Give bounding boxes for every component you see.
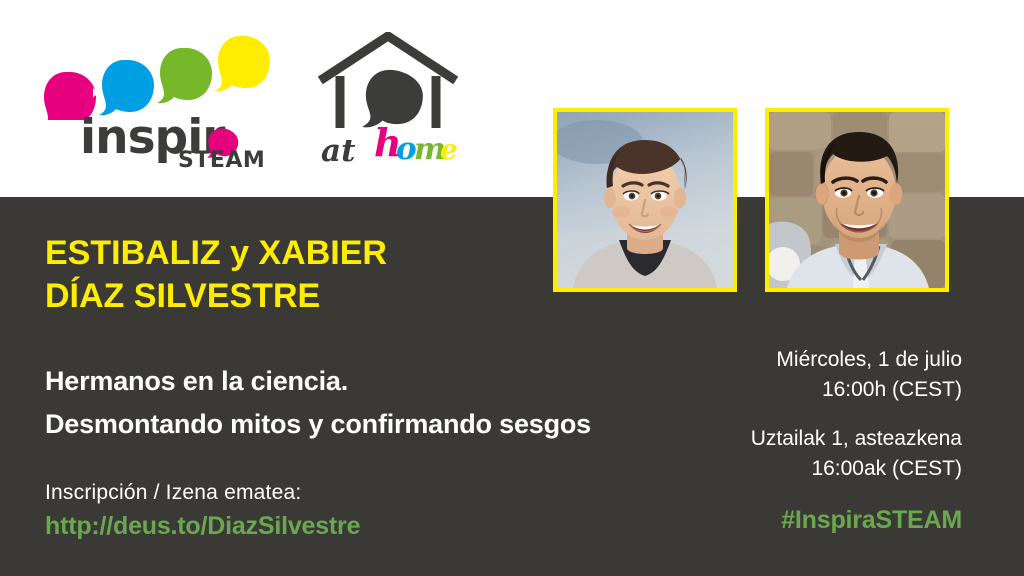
schedule-eu-time: 16:00ak (CEST)	[751, 454, 962, 484]
event-poster: inspir STEAM at h o m e	[0, 0, 1024, 576]
talk-title-line1: Hermanos en la ciencia.	[45, 360, 591, 403]
signup-url-link[interactable]: http://deus.to/DiazSilvestre	[45, 508, 360, 544]
signup-label: Inscripción / Izena ematea:	[45, 478, 360, 508]
portrait-man-image	[769, 112, 945, 288]
schedule-spanish: Miércoles, 1 de julio 16:00h (CEST)	[751, 345, 962, 406]
speaker-names-line2: DÍAZ SILVESTRE	[45, 275, 387, 318]
at-home-wordmark: at h o m e	[318, 124, 458, 168]
hashtag: #InspiraSTEAM	[781, 506, 962, 535]
talk-title-line2: Desmontando mitos y confirmando sesgos	[45, 403, 591, 446]
inspira-steam-logo: inspir STEAM	[44, 30, 284, 170]
portrait-woman-image	[557, 112, 733, 288]
inspira-steam-text: STEAM	[178, 150, 265, 172]
speaker-names-line1: ESTIBALIZ y XABIER	[45, 232, 387, 275]
at-home-logo: at h o m e	[318, 32, 458, 162]
schedule-es-date: Miércoles, 1 de julio	[751, 345, 962, 375]
at-home-at-text: at	[321, 136, 355, 167]
speaker-photo-xabier	[765, 108, 949, 292]
speaker-photo-estibaliz	[553, 108, 737, 292]
talk-title: Hermanos en la ciencia. Desmontando mito…	[45, 360, 591, 446]
speaker-names: ESTIBALIZ y XABIER DÍAZ SILVESTRE	[45, 232, 387, 317]
schedule-eu-date: Uztailak 1, asteazkena	[751, 424, 962, 454]
at-home-e-letter: e	[440, 136, 458, 164]
schedule-block: Miércoles, 1 de julio 16:00h (CEST) Uzta…	[751, 345, 962, 485]
schedule-es-time: 16:00h (CEST)	[751, 375, 962, 405]
schedule-basque: Uztailak 1, asteazkena 16:00ak (CEST)	[751, 424, 962, 485]
inspira-heads-icon	[44, 30, 284, 120]
signup-block: Inscripción / Izena ematea: http://deus.…	[45, 478, 360, 545]
house-with-head-icon	[318, 32, 458, 132]
